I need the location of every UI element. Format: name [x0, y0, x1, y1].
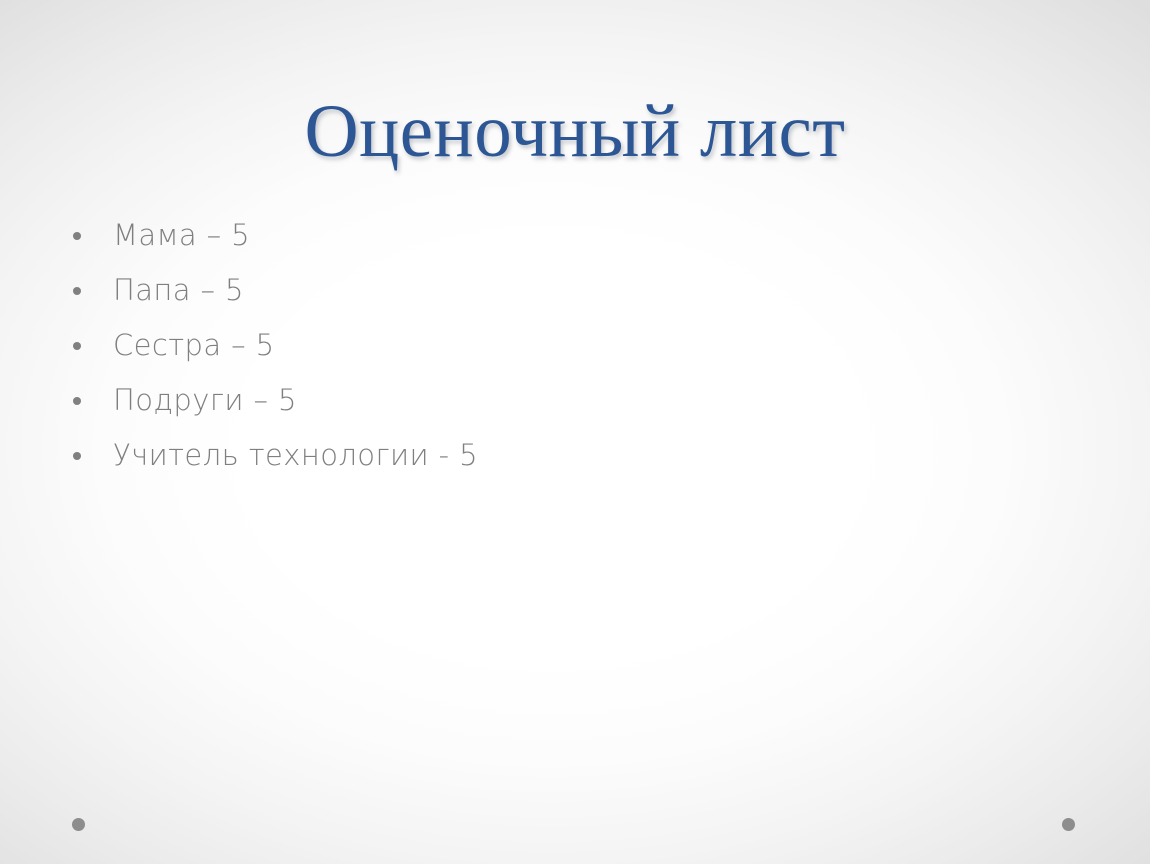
list-item: Подруги – 5 — [62, 373, 1070, 428]
list-item: Учитель технологии - 5 — [62, 428, 1070, 483]
slide-canvas: Оценочный лист Мама – 5 Папа – 5 Сестра … — [0, 0, 1150, 864]
list-item: Папа – 5 — [62, 263, 1070, 318]
list-item-label: Сестра – 5 — [113, 318, 275, 373]
list-item-label: Папа – 5 — [113, 263, 244, 318]
list-item: Сестра – 5 — [62, 318, 1070, 373]
bullet-list: Мама – 5 Папа – 5 Сестра – 5 Подруги – 5… — [62, 208, 1070, 483]
slide-title-container: Оценочный лист — [0, 92, 1150, 172]
bullet-dot-icon — [73, 342, 81, 350]
bullet-dot-icon — [73, 287, 81, 295]
bullet-dot-icon — [73, 397, 81, 405]
list-item: Мама – 5 — [62, 208, 1070, 263]
bullet-dot-icon — [73, 232, 81, 240]
page-title: Оценочный лист — [60, 92, 1090, 172]
list-item-label: Подруги – 5 — [113, 373, 297, 428]
list-item-label: Учитель технологии - 5 — [113, 428, 478, 483]
slide-body-container: Мама – 5 Папа – 5 Сестра – 5 Подруги – 5… — [62, 208, 1070, 483]
decorative-dot-left-icon — [72, 818, 85, 831]
list-item-label: Мама – 5 — [113, 208, 250, 263]
decorative-dot-right-icon — [1062, 818, 1075, 831]
bullet-dot-icon — [73, 452, 81, 460]
